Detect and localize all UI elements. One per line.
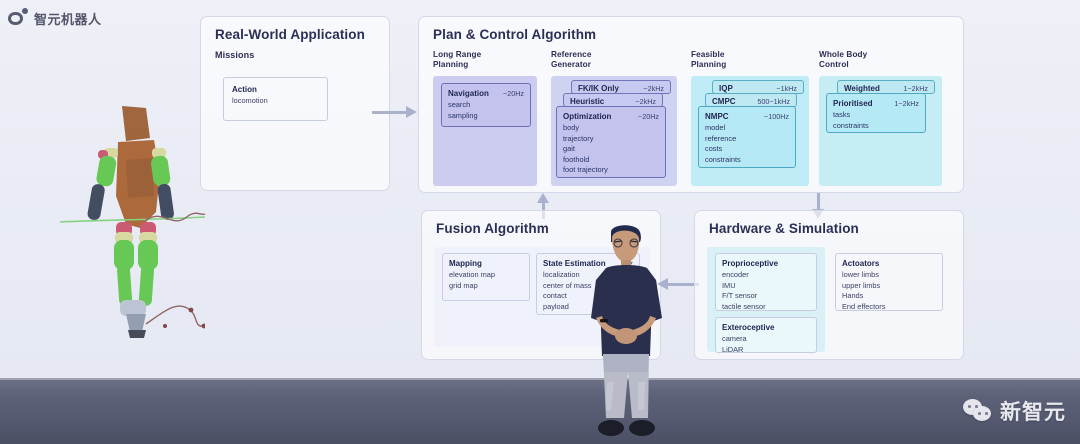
agibot-mark-icon bbox=[8, 8, 28, 28]
card-frequency: ~20Hz bbox=[638, 112, 659, 122]
column-label-long-range-planning: Long Range Planning bbox=[433, 50, 481, 71]
card-item: constraints bbox=[833, 121, 919, 132]
wechat-icon bbox=[963, 399, 993, 423]
card-heuristic: Heuristic ~2kHz bbox=[563, 93, 663, 107]
card-title-nmpc: NMPC bbox=[705, 111, 729, 122]
card-item: camera bbox=[722, 334, 810, 345]
brand-logo-text: 智元机器人 bbox=[34, 9, 102, 28]
card-item: tasks bbox=[833, 110, 919, 121]
card-proprioceptive: Proprioceptive encoder IMU F/T sensor ta… bbox=[715, 253, 817, 311]
card-action: Action locomotion bbox=[223, 77, 328, 121]
card-title-actuators: Actoators bbox=[842, 258, 879, 269]
watermark-text: 新智元 bbox=[1000, 396, 1066, 426]
panel-hardware-simulation: Hardware & Simulation Proprioceptive enc… bbox=[694, 210, 964, 360]
card-item: Hands bbox=[842, 291, 936, 302]
card-item: model bbox=[705, 123, 789, 134]
card-item: costs bbox=[705, 144, 789, 155]
brand-logo: 智元机器人 bbox=[8, 8, 102, 28]
card-title-prioritised: Prioritised bbox=[833, 98, 873, 109]
card-prioritised: Prioritised 1~2kHz tasks constraints bbox=[826, 93, 926, 133]
stage-floor bbox=[0, 378, 1080, 444]
watermark: 新智元 bbox=[963, 396, 1066, 426]
card-item: constraints bbox=[705, 155, 789, 166]
card-mapping: Mapping elevation map grid map bbox=[442, 253, 530, 301]
humanoid-robot-illustration bbox=[60, 104, 205, 339]
card-title-action: Action bbox=[232, 84, 257, 95]
card-title-proprioceptive: Proprioceptive bbox=[722, 258, 778, 269]
column-label-feasible-planning: Feasible Planning bbox=[691, 50, 726, 71]
card-item: tactile sensor bbox=[722, 302, 810, 313]
card-fk-ik-only: FK/IK Only ~2kHz bbox=[571, 80, 671, 94]
card-item: foothold bbox=[563, 155, 659, 166]
card-navigation: Navigation ~20Hz search sampling bbox=[441, 83, 531, 127]
card-item: gait bbox=[563, 144, 659, 155]
card-item: upper limbs bbox=[842, 281, 936, 292]
card-title-optimization: Optimization bbox=[563, 111, 611, 122]
card-cmpc: CMPC 500~1kHz bbox=[705, 93, 797, 107]
card-nmpc: NMPC ~100Hz model reference costs constr… bbox=[698, 106, 796, 168]
card-exteroceptive: Exteroceptive camera LiDAR bbox=[715, 317, 817, 353]
card-item: End effectors bbox=[842, 302, 936, 313]
panel-title-plan-control: Plan & Control Algorithm bbox=[433, 27, 596, 42]
card-item: lower limbs bbox=[842, 270, 936, 281]
card-item: encoder bbox=[722, 270, 810, 281]
card-optimization: Optimization ~20Hz body trajectory gait … bbox=[556, 106, 666, 178]
card-iqp: IQP ~1kHz bbox=[712, 80, 804, 94]
card-frequency: 1~2kHz bbox=[894, 99, 919, 109]
card-item: grid map bbox=[449, 281, 523, 292]
card-item: locomotion bbox=[232, 96, 319, 107]
panel-real-world-application: Real-World Application Missions Action l… bbox=[200, 16, 390, 191]
arrow-realworld-to-plan bbox=[372, 106, 420, 118]
card-item: foot trajectory bbox=[563, 165, 659, 176]
panel-title-fusion: Fusion Algorithm bbox=[436, 221, 549, 236]
card-frequency: ~20Hz bbox=[503, 89, 524, 99]
section-label-missions: Missions bbox=[215, 50, 254, 61]
panel-title-real-world: Real-World Application bbox=[215, 27, 365, 42]
card-item: body bbox=[563, 123, 659, 134]
card-frequency: ~100Hz bbox=[764, 112, 789, 122]
card-item: search bbox=[448, 100, 524, 111]
card-item: IMU bbox=[722, 281, 810, 292]
card-item: F/T sensor bbox=[722, 291, 810, 302]
card-weighted: Weighted 1~2kHz bbox=[837, 80, 935, 94]
presenter-person bbox=[578, 222, 674, 444]
panel-title-hardware: Hardware & Simulation bbox=[709, 221, 859, 236]
card-actuators: Actoators lower limbs upper limbs Hands … bbox=[835, 253, 943, 311]
column-label-reference-generator: Reference Generator bbox=[551, 50, 592, 71]
card-item: trajectory bbox=[563, 134, 659, 145]
card-title-exteroceptive: Exteroceptive bbox=[722, 322, 774, 333]
card-item: LiDAR bbox=[722, 345, 810, 356]
card-item: sampling bbox=[448, 111, 524, 122]
card-title-navigation: Navigation bbox=[448, 88, 489, 99]
card-title-mapping: Mapping bbox=[449, 258, 482, 269]
panel-plan-control-algorithm: Plan & Control Algorithm Long Range Plan… bbox=[418, 16, 964, 193]
column-label-whole-body-control: Whole Body Control bbox=[819, 50, 867, 71]
card-item: elevation map bbox=[449, 270, 523, 281]
card-item: reference bbox=[705, 134, 789, 145]
